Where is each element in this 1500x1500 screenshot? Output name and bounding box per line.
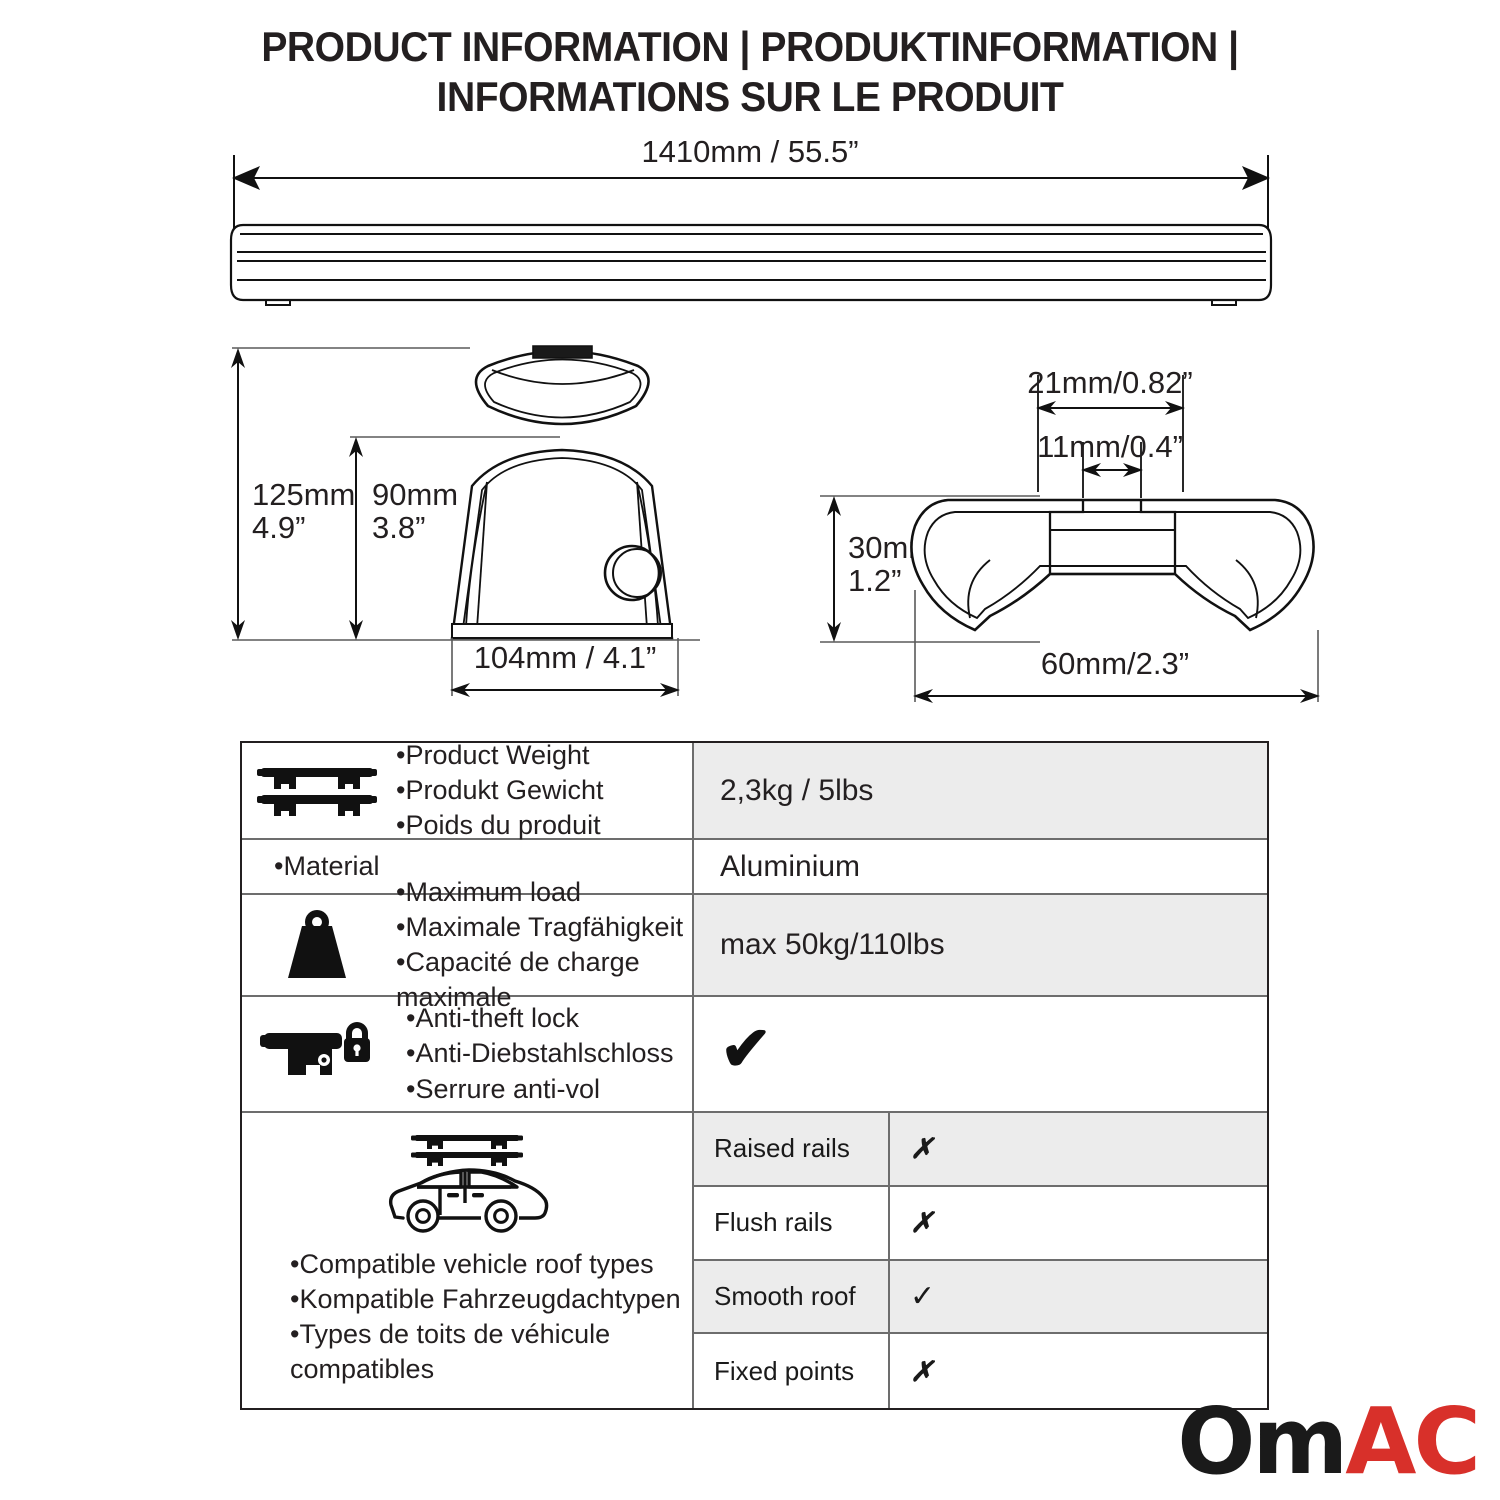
roof-types-subtable: Raised rails ✗ Flush rails ✗ Smooth roof… — [694, 1113, 1267, 1408]
row-label-text: •Compatible vehicle roof types •Kompatib… — [242, 1237, 681, 1387]
bar-length-label: 1410mm / 55.5” — [641, 134, 858, 169]
foot-height-inner-line2: 3.8” — [372, 510, 425, 545]
row-label-text: •Product Weight •Produkt Gewicht •Poids … — [392, 738, 604, 843]
roof-type-row: Flush rails ✗ — [694, 1187, 1267, 1261]
crossbars-icon — [242, 760, 392, 822]
omac-logo: OmAC — [1177, 1396, 1478, 1488]
roof-type-label: Flush rails — [694, 1187, 890, 1259]
row-label-cell: •Maximum load •Maximale Tragfähigkeit •C… — [242, 895, 694, 995]
section-slot-inner-label: 11mm/0.4” — [1037, 429, 1183, 464]
row-value-cell: max 50kg/110lbs — [694, 895, 1267, 995]
row-label-cell: •Anti-theft lock •Anti-Diebstahlschloss … — [242, 997, 694, 1111]
row-label-cell: •Compatible vehicle roof types •Kompatib… — [242, 1113, 694, 1408]
roof-type-mark-raised-rails: ✗ — [890, 1113, 1267, 1185]
row-value-cell: 2,3kg / 5lbs — [694, 743, 1267, 838]
section-slot-outer-label: 21mm/0.82” — [1027, 365, 1192, 400]
table-row: •Maximum load •Maximale Tragfähigkeit •C… — [242, 895, 1267, 997]
roof-type-label: Fixed points — [694, 1334, 890, 1408]
anti-theft-check-icon: ✔ — [720, 1019, 772, 1081]
foot-bar-section — [476, 346, 649, 424]
product-information-sheet: PRODUCT INFORMATION | PRODUKTINFORMATION… — [0, 0, 1500, 1500]
foot-height-inner-line1: 90mm — [372, 477, 458, 512]
foot-width-label: 104mm / 4.1” — [474, 640, 657, 675]
omac-logo-red-part: AC — [1345, 1396, 1478, 1488]
page-title-line1: PRODUCT INFORMATION | PRODUKTINFORMATION… — [261, 23, 1238, 70]
row-label-text: •Anti-theft lock •Anti-Diebstahlschloss … — [392, 1001, 674, 1106]
page-title: PRODUCT INFORMATION | PRODUKTINFORMATION… — [53, 22, 1448, 121]
page-title-line2: INFORMATIONS SUR LE PRODUIT — [53, 72, 1448, 122]
section-width-label: 60mm/2.3” — [1041, 646, 1189, 681]
roof-type-label: Raised rails — [694, 1113, 890, 1185]
foot-height-total-line2: 4.9” — [252, 510, 305, 545]
roof-type-row: Smooth roof ✓ — [694, 1261, 1267, 1335]
table-row: •Product Weight •Produkt Gewicht •Poids … — [242, 743, 1267, 840]
row-value-cell: Aluminium — [694, 840, 1267, 893]
lock-icon — [242, 1019, 392, 1089]
roof-type-label: Smooth roof — [694, 1261, 890, 1333]
weight-icon — [242, 908, 392, 982]
row-label-text: •Material — [242, 849, 379, 884]
car-with-roof-rack-icon — [377, 1125, 557, 1237]
roof-type-mark-flush-rails: ✗ — [890, 1187, 1267, 1259]
foot-height-total-line1: 125mm — [252, 477, 355, 512]
roof-type-row: Raised rails ✗ — [694, 1113, 1267, 1187]
roof-bar-top-view-diagram: 1410mm / 55.5” 125mm 4.9” — [0, 130, 1500, 730]
table-row-roof-types: •Compatible vehicle roof types •Kompatib… — [242, 1113, 1267, 1408]
section-height-line2: 1.2” — [848, 563, 901, 598]
row-label-text: •Maximum load •Maximale Tragfähigkeit •C… — [392, 875, 692, 1015]
table-row: •Anti-theft lock •Anti-Diebstahlschloss … — [242, 997, 1267, 1113]
roof-type-mark-smooth-roof: ✓ — [890, 1261, 1267, 1333]
foot-tower-shape — [452, 450, 672, 638]
row-label-cell: •Product Weight •Produkt Gewicht •Poids … — [242, 743, 694, 838]
omac-logo-black-part: Om — [1177, 1396, 1345, 1488]
row-value-cell: ✔ — [694, 997, 1267, 1111]
specification-table: •Product Weight •Produkt Gewicht •Poids … — [240, 741, 1269, 1410]
bar-section-shape — [911, 500, 1313, 630]
